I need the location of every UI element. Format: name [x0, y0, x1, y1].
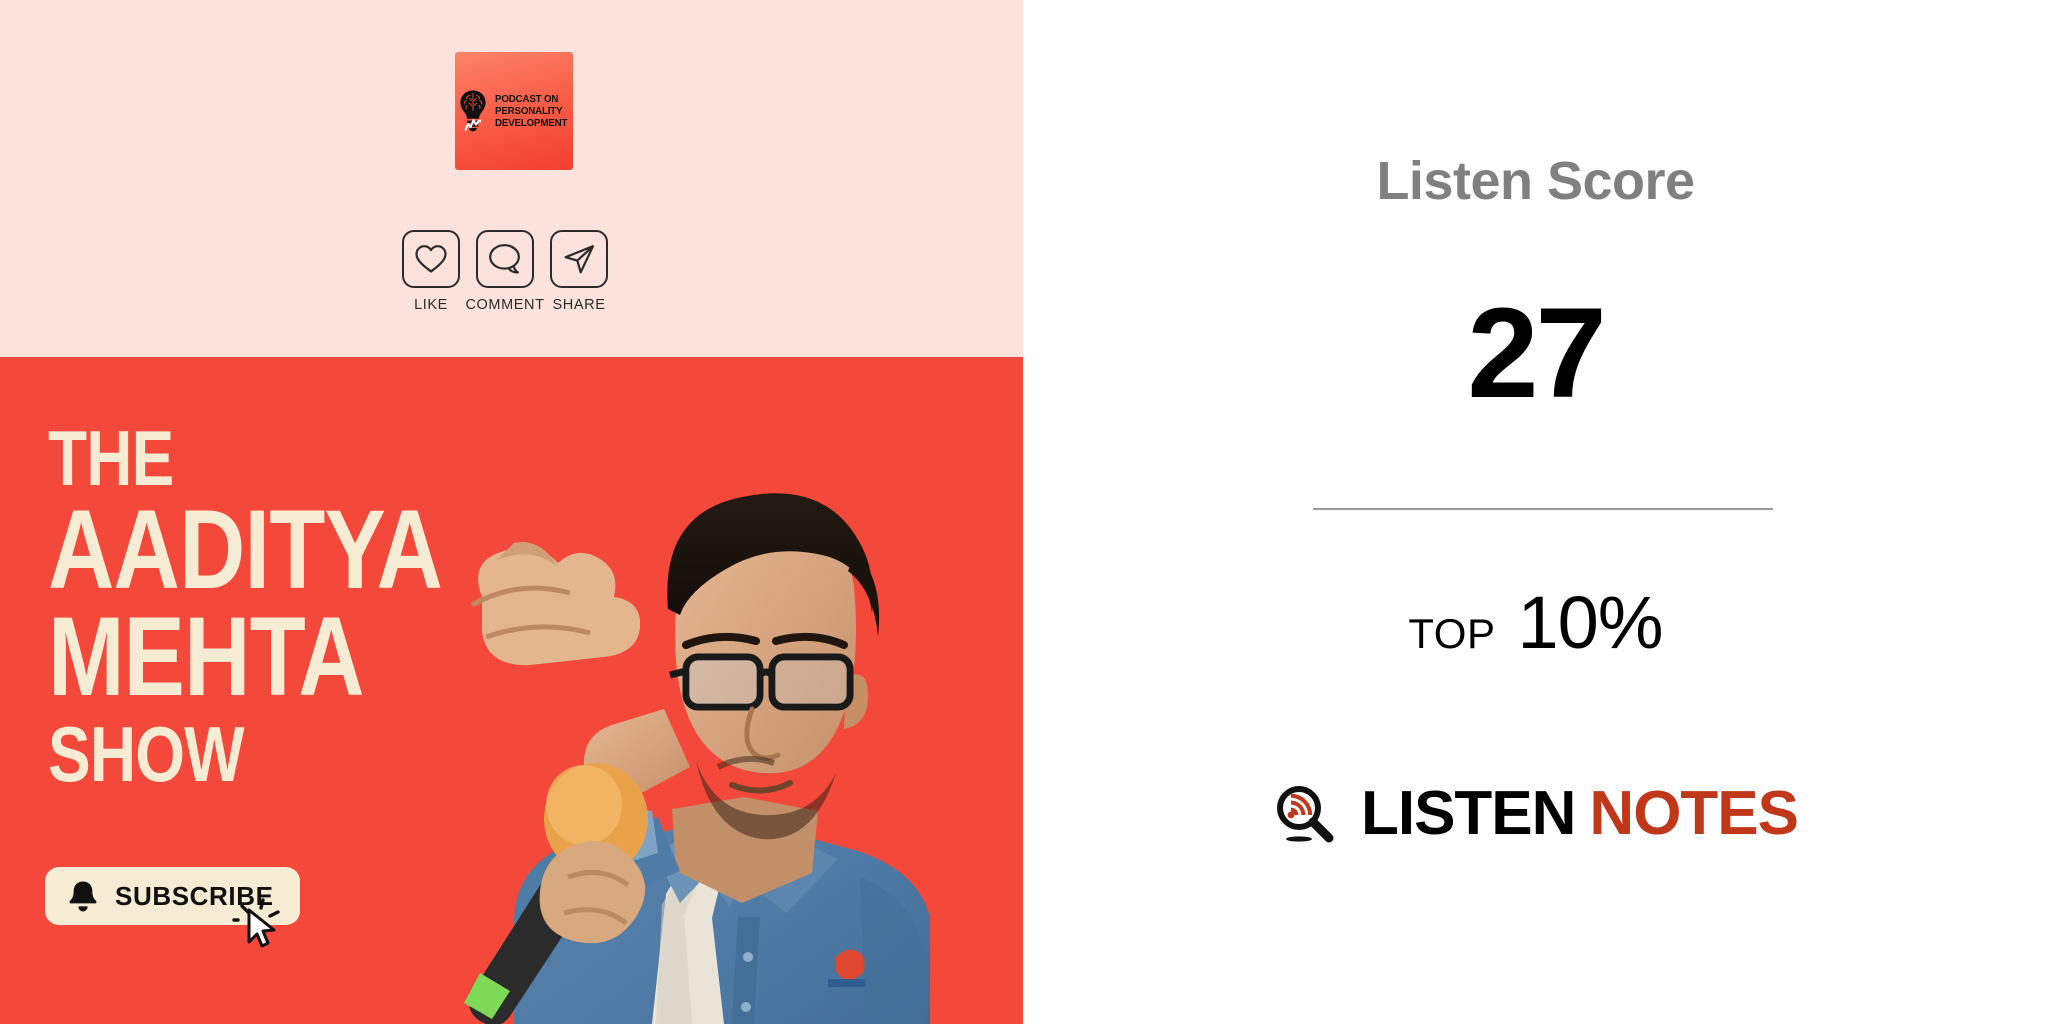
top-label: TOP — [1408, 610, 1495, 658]
brand-word-listen: LISTEN — [1361, 779, 1575, 848]
score-divider — [1313, 508, 1773, 510]
heart-icon — [414, 244, 448, 274]
top-percentile-row: TOP 10% — [1023, 580, 2048, 665]
podcast-logo-line-2: PERSONALITY — [495, 106, 567, 117]
listennotes-magnifier-rss-icon — [1273, 783, 1335, 845]
podcast-logo-line-3: DEVELOPMENT — [495, 118, 567, 129]
like-button[interactable] — [402, 230, 460, 288]
listen-score-title: Listen Score — [1023, 150, 2048, 212]
paper-plane-icon — [562, 243, 596, 275]
bell-icon — [67, 879, 99, 913]
listen-score-panel: Listen Score 27 TOP 10% LISTENNOTES — [1023, 0, 2048, 1024]
comment-label: COMMENT — [465, 297, 544, 313]
podcast-preview-panel: PODCAST ON PERSONALITY DEVELOPMENT LIKE — [0, 0, 1023, 1024]
cover-title-line-1: THE — [48, 419, 442, 497]
podcast-logo[interactable]: PODCAST ON PERSONALITY DEVELOPMENT — [455, 52, 573, 170]
listennotes-brand[interactable]: LISTENNOTES — [1023, 778, 2048, 849]
share-label: SHARE — [553, 297, 606, 313]
listen-score-card: PODCAST ON PERSONALITY DEVELOPMENT LIKE — [0, 0, 2048, 1024]
action-row: LIKE COMMENT — [400, 230, 610, 313]
like-action[interactable]: LIKE — [400, 230, 462, 313]
share-action[interactable]: SHARE — [548, 230, 610, 313]
cover-title-line-2: AADITYA — [48, 497, 442, 603]
cover-title: THE AADITYA MEHTA SHOW — [48, 419, 528, 797]
podcast-cover-art[interactable]: THE AADITYA MEHTA SHOW — [0, 357, 1023, 1024]
like-label: LIKE — [414, 297, 448, 313]
podcast-logo-line-1: PODCAST ON — [495, 94, 567, 105]
click-cursor-icon — [228, 892, 288, 952]
comment-bubble-icon — [488, 243, 522, 275]
podcast-logo-text: PODCAST ON PERSONALITY DEVELOPMENT — [495, 94, 573, 129]
cover-title-line-4: SHOW — [48, 711, 442, 797]
comment-button[interactable] — [476, 230, 534, 288]
brain-lightbulb-icon — [456, 89, 490, 133]
comment-action[interactable]: COMMENT — [474, 230, 536, 313]
brand-word-notes: NOTES — [1589, 779, 1798, 848]
listennotes-wordmark: LISTENNOTES — [1361, 778, 1798, 849]
cover-title-line-3: MEHTA — [48, 603, 442, 711]
social-actions-strip: PODCAST ON PERSONALITY DEVELOPMENT LIKE — [0, 0, 1023, 357]
share-button[interactable] — [550, 230, 608, 288]
top-percentile-value: 10% — [1517, 580, 1662, 665]
podcast-logo-inner: PODCAST ON PERSONALITY DEVELOPMENT — [455, 52, 573, 170]
listen-score-value: 27 — [1023, 290, 2048, 418]
